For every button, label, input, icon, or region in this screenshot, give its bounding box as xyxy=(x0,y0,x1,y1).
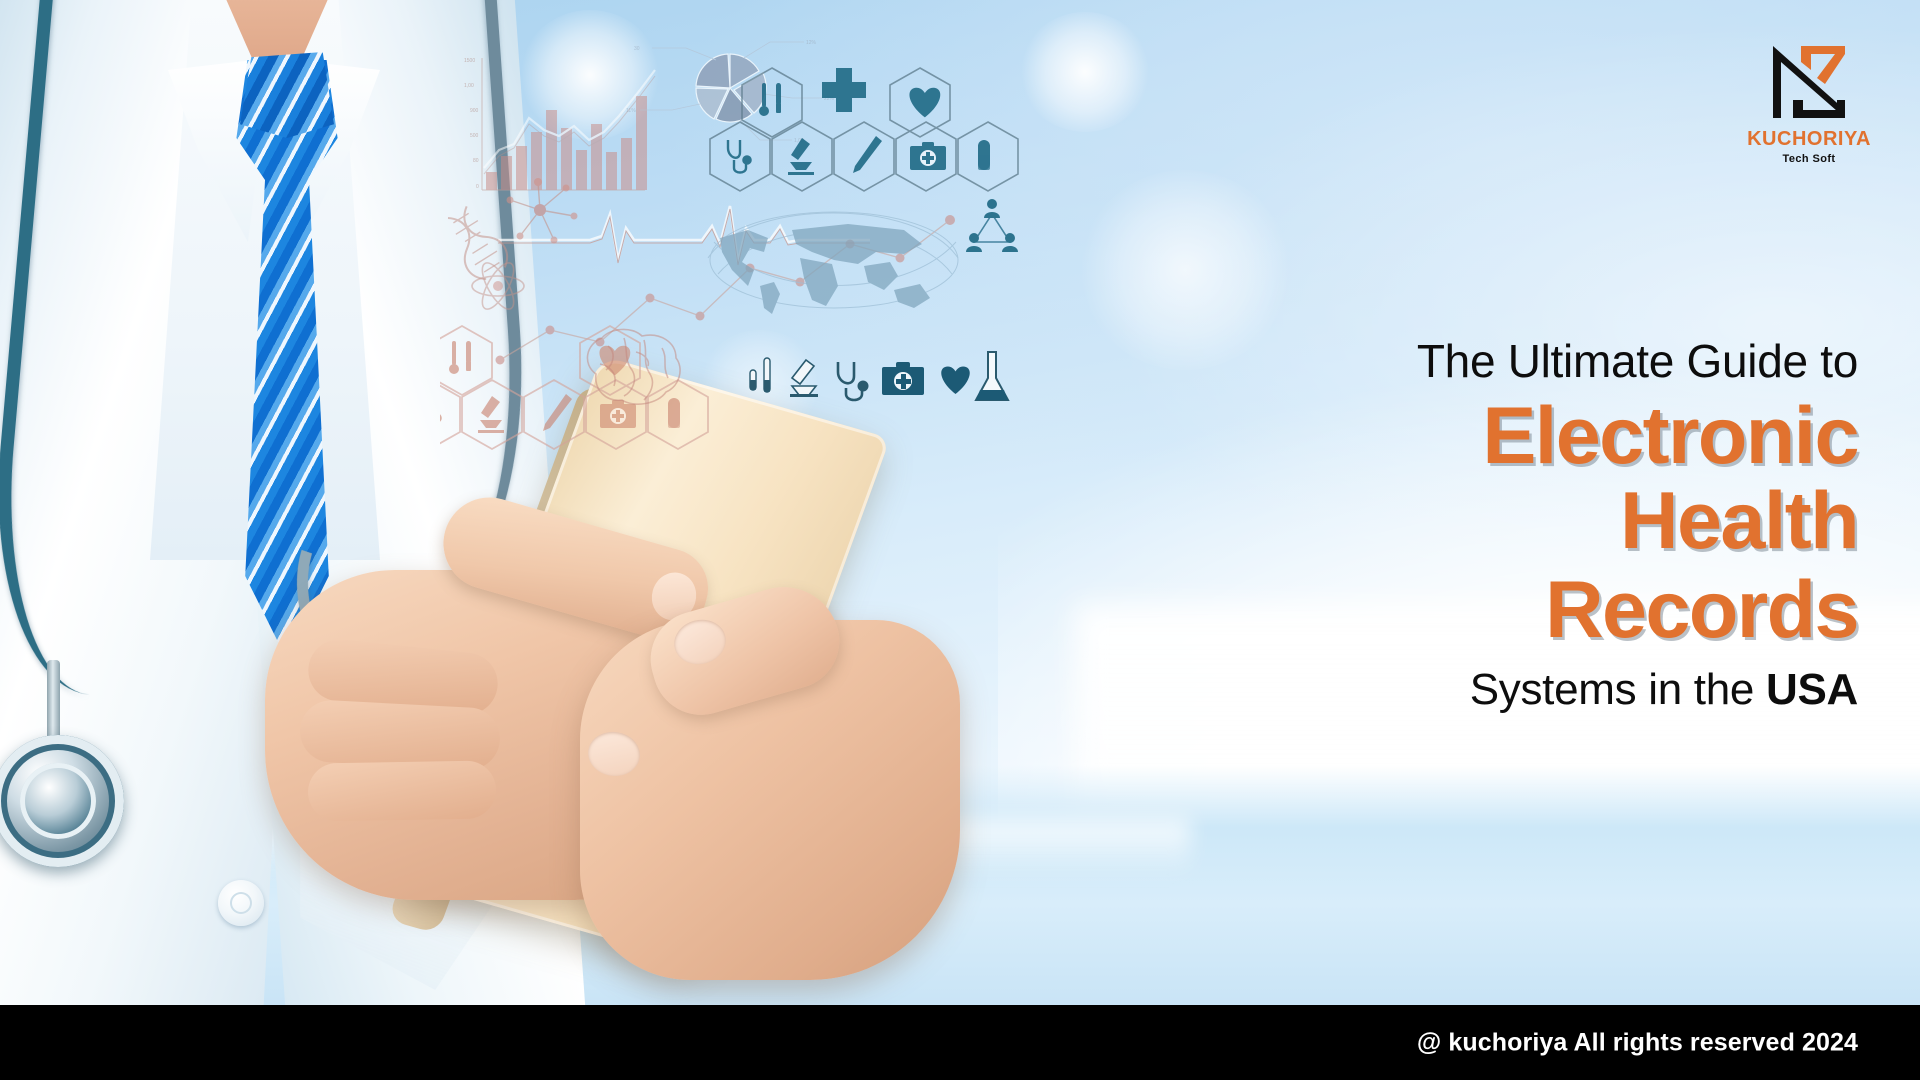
stethoscope-stem xyxy=(47,660,60,746)
copyright-text: @ kuchoriya All rights reserved 2024 xyxy=(1417,1028,1858,1057)
first-aid-kit-icon xyxy=(910,142,946,170)
pill-icon xyxy=(668,398,680,428)
stethoscope-icon xyxy=(440,398,441,431)
svg-text:80: 80 xyxy=(473,158,479,164)
svg-text:1500: 1500 xyxy=(464,58,475,64)
pen-icon xyxy=(853,136,882,173)
microscope-icon xyxy=(478,396,504,433)
brand-name: KUCHORIYA xyxy=(1744,128,1874,151)
banner: 15001,00 900500 800 xyxy=(0,0,1920,1080)
first-aid-kit-icon xyxy=(882,362,924,395)
headline-block: The Ultimate Guide to Electronic Health … xyxy=(1298,336,1858,715)
headline-subtitle-emphasis: USA xyxy=(1766,665,1858,714)
svg-text:0: 0 xyxy=(476,184,479,190)
pill-icon xyxy=(978,140,990,170)
headline-subtitle: Systems in the USA xyxy=(1298,665,1858,715)
lab-coat-button xyxy=(218,880,264,926)
stethoscope-icon xyxy=(728,140,751,173)
heart-icon xyxy=(910,88,941,118)
bar-chart: 15001,00 900500 800 xyxy=(464,58,655,190)
kuchoriya-monogram-icon xyxy=(1744,40,1874,124)
brand-tagline: Tech Soft xyxy=(1744,153,1874,165)
svg-text:900: 900 xyxy=(470,108,479,114)
icon-row-teal xyxy=(750,352,1008,400)
medical-infographic-overlay: 15001,00 900500 800 xyxy=(440,30,1180,500)
medical-cross-icon xyxy=(822,68,866,112)
stethoscope-icon xyxy=(838,362,867,400)
finger xyxy=(308,760,497,821)
svg-text:11%: 11% xyxy=(626,108,636,114)
flask-icon xyxy=(976,352,1008,400)
headline-eyebrow: The Ultimate Guide to xyxy=(1298,336,1858,388)
hex-icon-cluster-rose xyxy=(440,326,708,449)
headline-subtitle-prefix: Systems in the xyxy=(1470,665,1766,714)
svg-text:500: 500 xyxy=(470,133,479,139)
people-network-icon xyxy=(966,199,1018,252)
headline-title-line1: Electronic xyxy=(1298,392,1858,481)
microscope-icon xyxy=(788,138,814,175)
svg-text:12%: 12% xyxy=(806,40,817,46)
hands-holding-tablet xyxy=(270,470,1010,1010)
brand-logo[interactable]: KUCHORIYA Tech Soft xyxy=(1744,40,1874,165)
svg-text:1,00: 1,00 xyxy=(464,83,474,89)
headline-title-line2: Health Records xyxy=(1298,477,1858,655)
atom-icon xyxy=(472,258,524,313)
thermometer-icon xyxy=(750,358,770,392)
heart-icon xyxy=(941,367,970,395)
thermometer-icon xyxy=(449,341,471,374)
svg-text:30: 30 xyxy=(634,46,640,52)
thermometer-icon xyxy=(759,83,781,116)
microscope-icon xyxy=(790,360,818,397)
pen-icon xyxy=(543,394,572,431)
footer-bar: @ kuchoriya All rights reserved 2024 xyxy=(0,1005,1920,1080)
